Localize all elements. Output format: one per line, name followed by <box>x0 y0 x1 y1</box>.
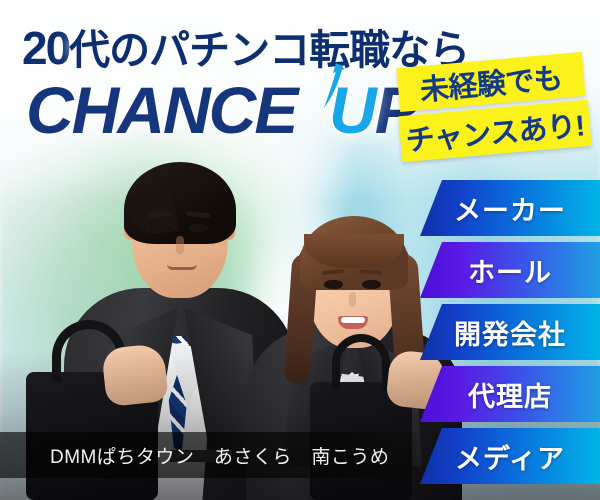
male-mouth <box>167 264 197 270</box>
logo-spacer <box>313 73 329 147</box>
male-eye-left <box>150 224 171 232</box>
headline-number: 20 <box>22 22 69 74</box>
category-button-hall[interactable]: ホール <box>420 242 600 298</box>
logo-main-text: CHANCE <box>26 73 296 147</box>
male-nose <box>176 236 184 254</box>
recruitment-banner: 20代のパチンコ転職なら CHANCE UP 未経験でも チャンスあり! メーカ… <box>0 0 600 500</box>
logo-u-letter: U <box>329 73 375 147</box>
caption-bar: DMMぱちタウン あさくら 南こうめ <box>0 432 432 478</box>
category-list: メーカー ホール 開発会社 代理店 メディア <box>420 180 600 490</box>
category-button-developer[interactable]: 開発会社 <box>420 304 600 360</box>
female-nose <box>349 292 356 307</box>
experience-badge: 未経験でも チャンスあり! <box>398 58 590 158</box>
male-hair <box>124 162 236 244</box>
category-button-media[interactable]: メディア <box>420 428 600 484</box>
female-eye-left <box>324 280 343 289</box>
female-eye-right <box>362 280 381 289</box>
caption-text: DMMぱちタウン あさくら 南こうめ <box>50 442 389 469</box>
category-button-agency[interactable]: 代理店 <box>420 366 600 422</box>
male-eye-right <box>188 224 209 232</box>
category-button-maker[interactable]: メーカー <box>420 180 600 236</box>
female-teeth <box>341 317 365 323</box>
logo-chance-up: CHANCE UP <box>26 72 417 148</box>
